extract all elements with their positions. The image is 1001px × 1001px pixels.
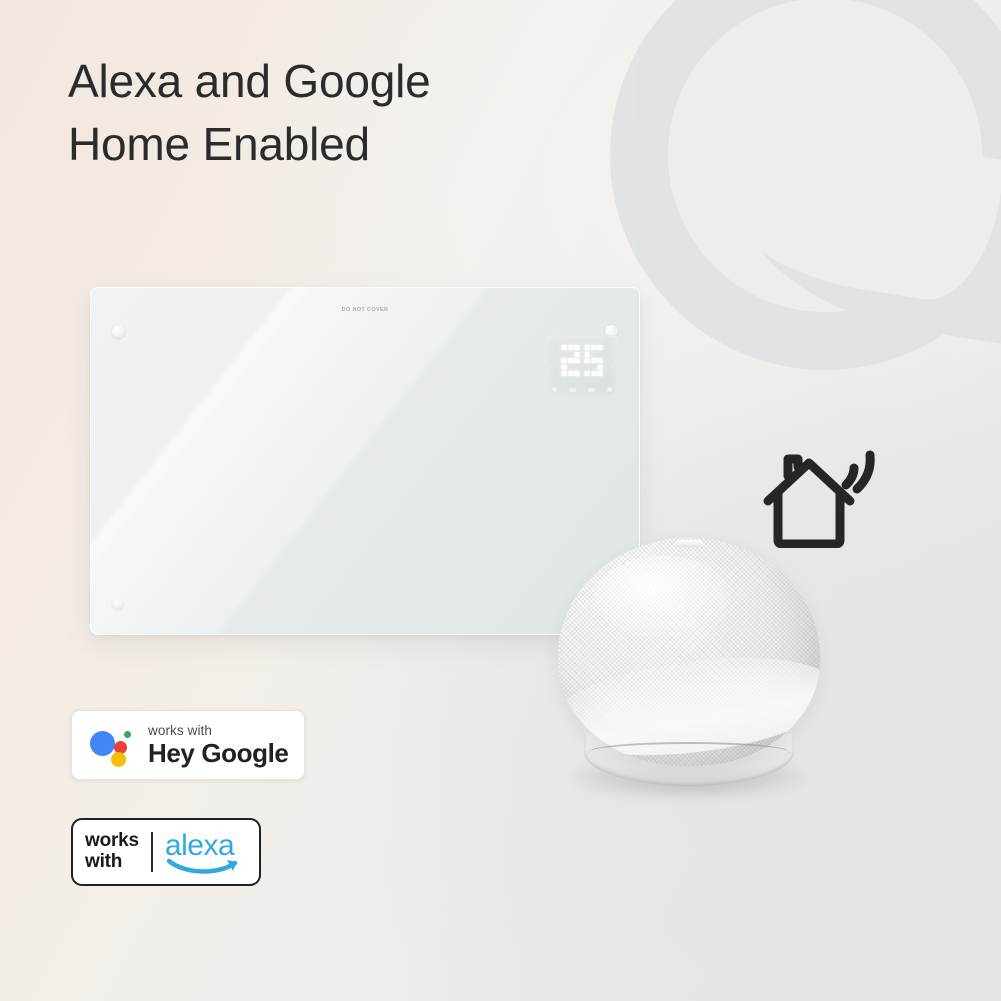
amazon-swirl-watermark [610, 0, 1001, 370]
watermark-cut [686, 113, 1001, 308]
power-button[interactable] [552, 387, 557, 392]
watermark-ring [610, 0, 1001, 370]
alexa-badge-line2: with [85, 852, 139, 873]
wifi-button[interactable] [607, 387, 612, 392]
product-marketing-image: Alexa and Google Home Enabled DO NOT COV… [0, 0, 1001, 1001]
headline-text: Alexa and Google Home Enabled [68, 50, 628, 177]
alexa-badge-works-with: works with [85, 831, 139, 872]
google-badge-works-with: works with [148, 724, 288, 738]
digit-tens [562, 345, 580, 376]
digit-ones [585, 345, 603, 376]
google-dot-blue [90, 731, 115, 756]
alexa-badge-line1: works [85, 831, 139, 852]
works-with-hey-google-badge[interactable]: works with Hey Google [71, 710, 305, 780]
temperature-digits [562, 345, 603, 376]
mounting-stud-bottom-left [112, 598, 123, 609]
speaker-body [558, 538, 820, 766]
google-assistant-icon [90, 725, 132, 765]
echo-dot-smart-speaker [558, 538, 820, 788]
alexa-wordmark: alexa [165, 831, 234, 861]
google-badge-text: works with Hey Google [148, 724, 288, 767]
speaker-top-button[interactable] [675, 540, 703, 547]
decrease-arrow-icon[interactable]: ◂ [549, 363, 552, 370]
google-badge-wordmark: Hey Google [148, 740, 288, 766]
mode-button[interactable] [569, 388, 576, 392]
alexa-smile-arrow [167, 858, 245, 876]
speaker-seam [588, 742, 790, 762]
works-with-alexa-badge[interactable]: works with alexa [71, 818, 261, 886]
smart-home-wifi-icon [762, 443, 880, 548]
google-dot-yellow [111, 752, 126, 767]
display-control-buttons[interactable] [552, 387, 612, 392]
google-dot-green [124, 731, 131, 738]
led-temperature-display[interactable]: ◂ ▸ [546, 335, 618, 397]
warning-label: DO NOT COVER [90, 307, 640, 313]
speaker-highlight [595, 556, 731, 638]
timer-button[interactable] [588, 388, 595, 392]
alexa-logo: alexa [165, 828, 247, 876]
mounting-stud-top-left [112, 325, 125, 338]
watermark-tail [720, 151, 1001, 351]
watermark-inner [668, 0, 982, 312]
increase-arrow-icon[interactable]: ▸ [612, 363, 615, 370]
alexa-badge-divider [151, 832, 153, 872]
